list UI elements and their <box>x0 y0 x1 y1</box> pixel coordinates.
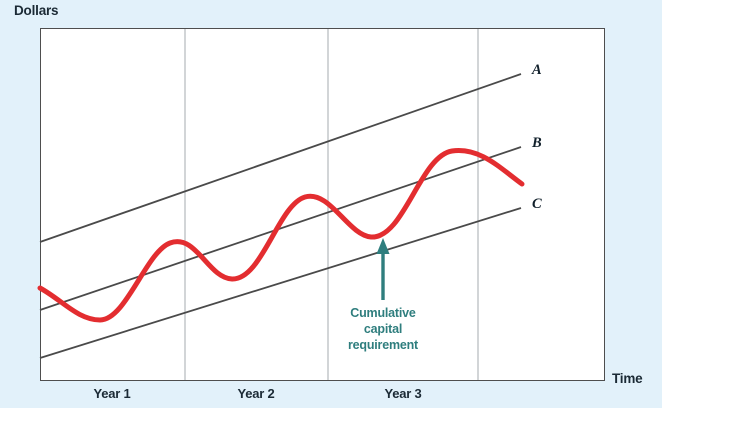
cumulative-capital-requirement-curve <box>40 151 522 320</box>
trend-line-b <box>40 147 521 310</box>
cumulative-capital-annotation: Cumulative capital requirement <box>318 305 448 353</box>
annotation-line-1: Cumulative <box>318 305 448 321</box>
x-tick-label-year-3: Year 3 <box>343 386 463 401</box>
annotation-line-2: capital <box>318 321 448 337</box>
arrow-head-icon <box>377 238 390 254</box>
cumulative-capital-arrow <box>377 238 390 300</box>
annotation-line-3: requirement <box>318 337 448 353</box>
x-tick-label-year-2: Year 2 <box>196 386 316 401</box>
y-axis-title: Dollars <box>14 3 58 18</box>
series-label-a: A <box>532 62 542 79</box>
trend-line-a <box>40 74 521 242</box>
x-axis-title: Time <box>612 371 642 386</box>
series-label-c: C <box>532 196 542 213</box>
chart-graphics-layer <box>0 0 756 422</box>
series-label-b: B <box>532 135 542 152</box>
trend-line-c <box>40 208 521 358</box>
x-tick-label-year-1: Year 1 <box>52 386 172 401</box>
figure-container: Dollars Time Year 1 Year 2 Year 3 A B C … <box>0 0 756 422</box>
